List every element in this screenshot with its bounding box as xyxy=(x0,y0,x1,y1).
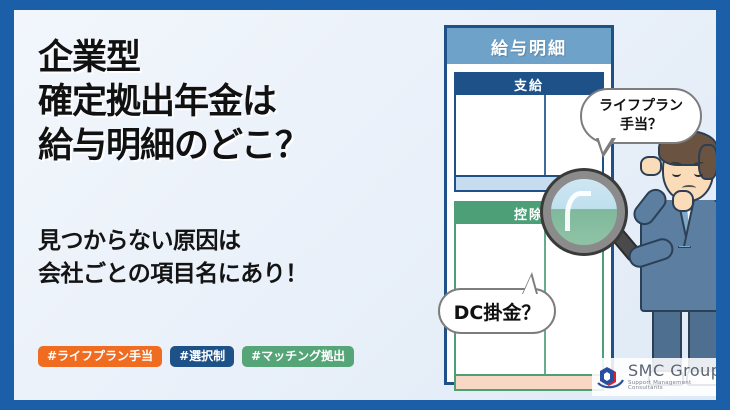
banner-canvas: 企業型 確定拠出年金は 給与明細のどこ？ 見つからない原因は 会社ごとの項目名に… xyxy=(14,10,716,400)
logo-tagline: Support Management Consultants xyxy=(628,381,716,392)
bubble-tail-dc-fill xyxy=(523,276,536,294)
bubble-dc-label: DC掛金？ xyxy=(454,298,541,325)
bubble-tail-life-allowance-fill xyxy=(598,136,613,152)
headline-line-1: 企業型 xyxy=(38,36,438,80)
speech-bubble-dc-contribution: DC掛金？ xyxy=(438,288,556,334)
hand-on-chin xyxy=(672,190,694,212)
subtitle-line-2: 会社ごとの項目名にあり！ xyxy=(38,258,438,291)
payments-total-row xyxy=(456,175,602,190)
payments-column-divider xyxy=(544,95,546,175)
logo-name: SMC Group xyxy=(628,363,716,379)
hashtag-list: #ライフプラン手当 #選択制 #マッチング拠出 xyxy=(38,346,354,367)
payslip-title-label: 給与明細 xyxy=(491,34,567,59)
subtitle: 見つからない原因は 会社ごとの項目名にあり！ xyxy=(38,225,438,291)
bubble-life-line-1: ライフプラン xyxy=(599,97,683,116)
eye-right xyxy=(694,170,703,177)
logo-cube-icon xyxy=(596,363,624,391)
hand-scratching-head xyxy=(640,156,662,176)
banner-root: 企業型 確定拠出年金は 給与明細のどこ？ 見つからない原因は 会社ごとの項目名に… xyxy=(0,0,730,410)
deductions-total-row xyxy=(456,374,602,389)
payslip-section-payments: 支給 xyxy=(454,72,604,192)
smc-group-logo: SMC Group Support Management Consultants xyxy=(592,358,716,396)
payments-body xyxy=(456,95,602,175)
deductions-header: 控除 xyxy=(456,203,602,224)
page-title: 企業型 確定拠出年金は 給与明細のどこ？ xyxy=(38,36,438,168)
headline-line-2: 確定拠出年金は xyxy=(38,80,438,124)
subtitle-line-1: 見つからない原因は xyxy=(38,225,438,258)
payments-header: 支給 xyxy=(456,74,602,95)
hashtag-matching-contribution[interactable]: #マッチング拠出 xyxy=(242,346,354,367)
eye-left xyxy=(672,170,681,177)
payments-label: 支給 xyxy=(514,75,544,94)
logo-text-block: SMC Group Support Management Consultants xyxy=(628,363,716,392)
deductions-label: 控除 xyxy=(514,204,544,223)
payslip-header: 給与明細 xyxy=(447,28,611,64)
hashtag-selective-system[interactable]: #選択制 xyxy=(170,346,234,367)
businessman-illustration xyxy=(632,122,716,388)
bubble-life-line-2: 手当？ xyxy=(599,116,683,135)
hashtag-life-plan-allowance[interactable]: #ライフプラン手当 xyxy=(38,346,162,367)
headline-line-3: 給与明細のどこ？ xyxy=(38,124,438,168)
